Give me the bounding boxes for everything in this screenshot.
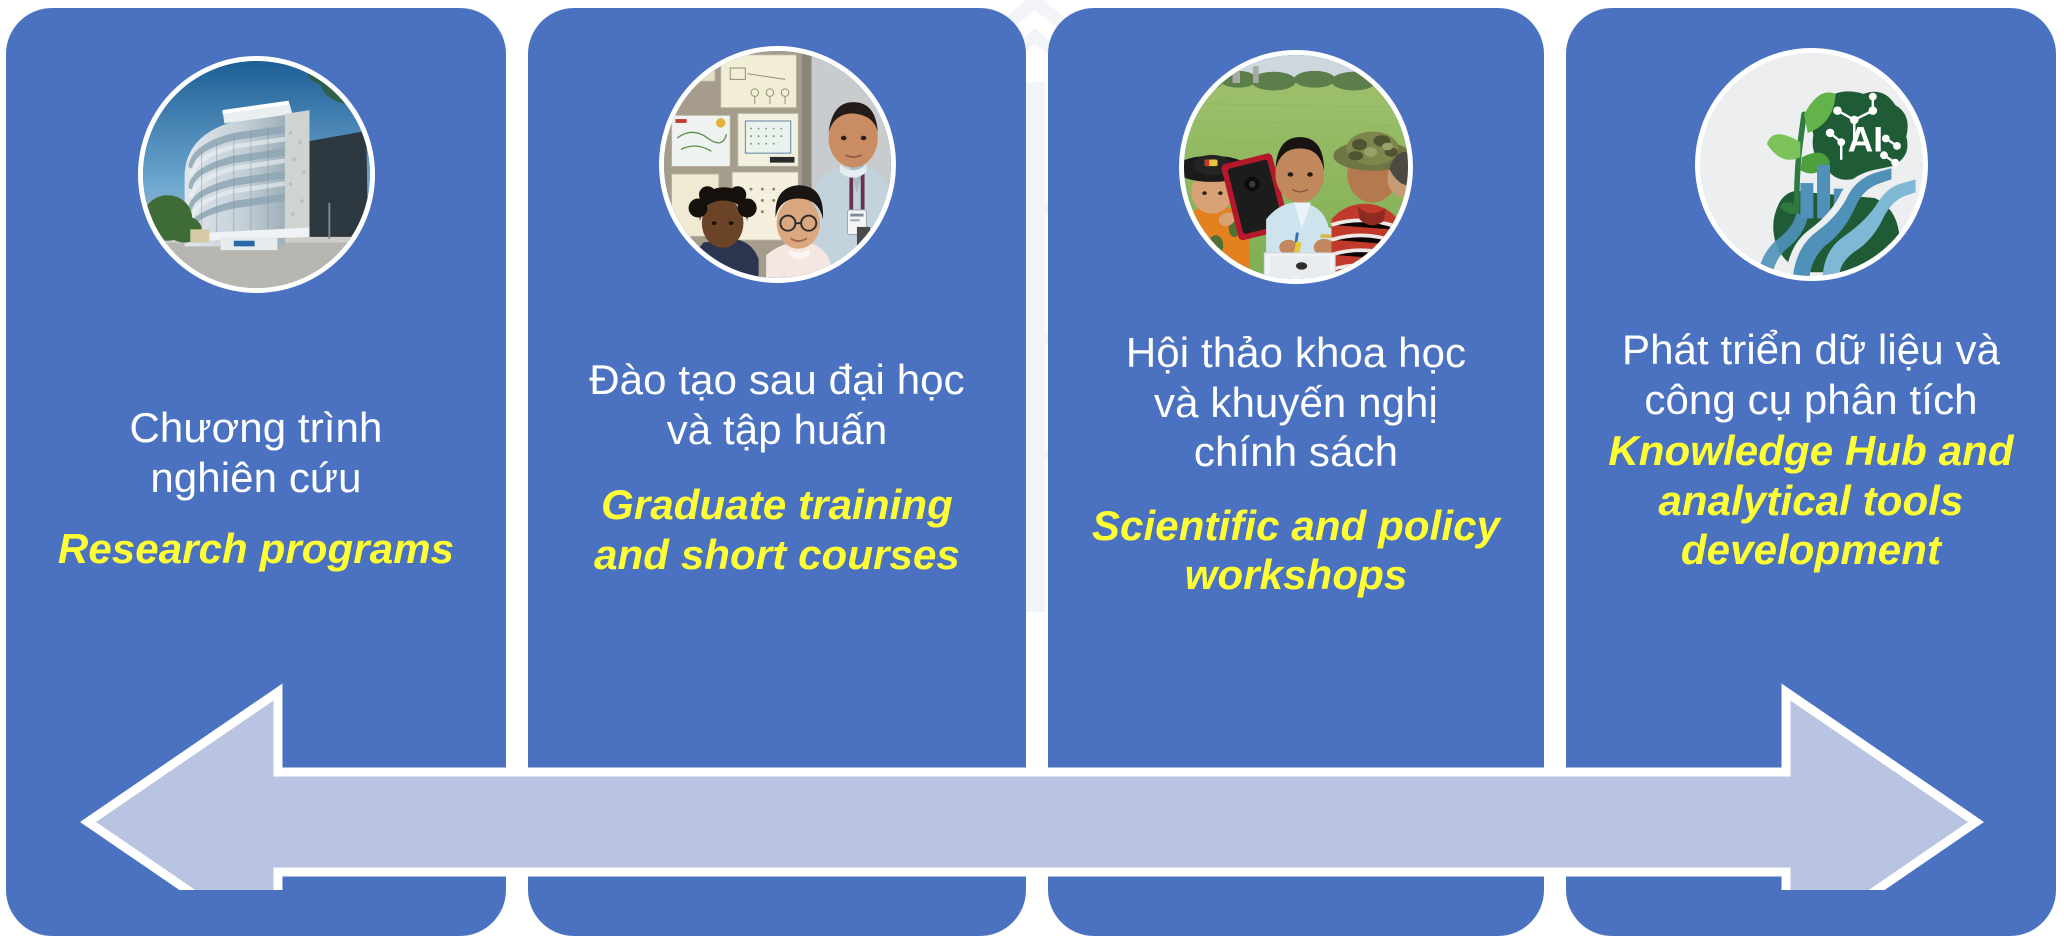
pillar-title-vi-4: Phát triển dữ liệu vàcông cụ phân tích <box>1622 325 2000 424</box>
pillar-title-vi-2: Đào tạo sau đại họcvà tập huấn <box>589 355 965 454</box>
pillar-card-research-programs[interactable]: Chương trìnhnghiên cứu Research programs <box>6 8 506 936</box>
pillar-subtitle-en-1: Research programs <box>58 524 454 574</box>
field-survey-photo <box>1179 50 1413 284</box>
ai-knowledge-hub-logo: AI <box>1695 48 1928 281</box>
pillar-title-vi-3: Hội thảo khoa họcvà khuyến nghịchính sác… <box>1126 328 1466 477</box>
pillar-subtitle-en-3: Scientific and policyworkshops <box>1092 501 1500 600</box>
pillar-subtitle-en-4: Knowledge Hub andanalytical toolsdevelop… <box>1608 426 2013 575</box>
pillar-text-scientific-policy-workshops: Hội thảo khoa họcvà khuyến nghịchính sác… <box>1048 284 1544 936</box>
pillar-card-graduate-training[interactable]: RE <box>528 8 1026 936</box>
pillar-text-knowledge-hub-tools: Phát triển dữ liệu vàcông cụ phân tích K… <box>1566 281 2056 936</box>
pillar-card-scientific-policy-workshops[interactable]: Hội thảo khoa họcvà khuyến nghịchính sác… <box>1048 8 1544 936</box>
pillar-title-vi-1: Chương trìnhnghiên cứu <box>130 403 383 502</box>
svg-text:RE: RE <box>677 64 697 80</box>
pillar-text-graduate-training: Đào tạo sau đại họcvà tập huấn Graduate … <box>528 283 1026 936</box>
research-building-photo <box>138 56 375 293</box>
pillar-subtitle-en-2: Graduate trainingand short courses <box>594 480 960 579</box>
classroom-training-photo: RE <box>659 46 896 283</box>
pillar-card-knowledge-hub-tools[interactable]: AI <box>1566 8 2056 936</box>
pillar-text-research-programs: Chương trìnhnghiên cứu Research programs <box>6 293 506 936</box>
diagram-canvas: Chương trìnhnghiên cứu Research programs <box>0 0 2064 944</box>
ai-badge-text: AI <box>1847 120 1882 159</box>
